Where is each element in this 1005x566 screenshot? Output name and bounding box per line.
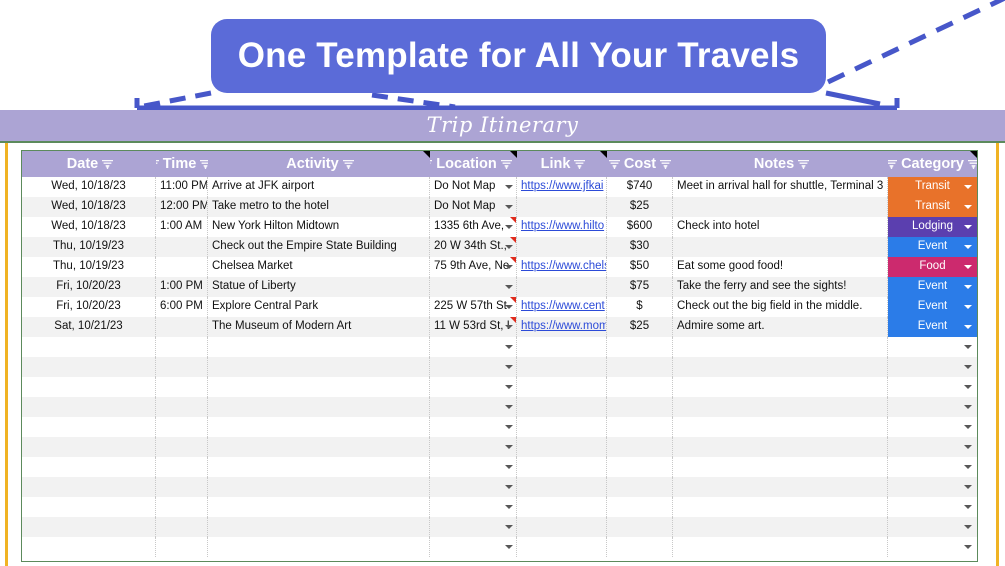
sheet-title: Trip Itinerary [0,110,1005,143]
category-badge[interactable] [888,417,977,437]
cell-activity[interactable]: New York Hilton Midtown [208,217,430,237]
cell-activity[interactable] [208,397,430,417]
right-edge-bar [996,143,999,566]
dropdown-arrow-icon[interactable] [505,525,513,529]
column-header-location[interactable]: Location [430,151,517,177]
table-row[interactable]: Fri, 10/20/231:00 PMStatue of Liberty$75… [22,277,977,297]
table-row-empty[interactable] [22,457,977,477]
cell-activity[interactable] [208,337,430,357]
table-row[interactable]: Fri, 10/20/236:00 PMExplore Central Park… [22,297,977,317]
cell-time[interactable] [156,257,208,277]
left-edge-bar [5,143,8,566]
table-row[interactable]: Wed, 10/18/2312:00 PMTake metro to the h… [22,197,977,217]
category-badge[interactable]: Transit [888,177,977,197]
dropdown-arrow-icon[interactable] [505,465,513,469]
cell-location[interactable]: Do Not Map [430,197,517,217]
dropdown-arrow-icon[interactable] [964,545,972,549]
cell-activity[interactable] [208,537,430,557]
cell-link[interactable] [517,497,607,517]
table-row-empty[interactable] [22,397,977,417]
cell-location[interactable] [430,417,517,437]
cell-time[interactable] [156,417,208,437]
cell-cost[interactable] [607,337,673,357]
cell-date[interactable]: Fri, 10/20/23 [22,277,156,297]
cell-category[interactable] [888,417,977,437]
table-row[interactable]: Wed, 10/18/231:00 AMNew York Hilton Midt… [22,217,977,237]
cell-link[interactable] [517,397,607,417]
cell-link[interactable]: https://www.cent [517,297,607,317]
cell-cost[interactable] [607,377,673,397]
cell-cost[interactable]: $25 [607,197,673,217]
cell-location[interactable]: 225 W 57th St [430,297,517,317]
cell-time[interactable]: 1:00 PM [156,277,208,297]
dropdown-arrow-icon[interactable] [505,425,513,429]
category-badge[interactable] [888,377,977,397]
dropdown-arrow-icon[interactable] [964,345,972,349]
filter-icon[interactable] [609,160,620,169]
cell-date[interactable] [22,477,156,497]
cell-notes[interactable] [673,357,888,377]
cell-notes[interactable] [673,397,888,417]
cell-category[interactable]: Transit [888,177,977,197]
cell-activity[interactable] [208,357,430,377]
cell-cost[interactable] [607,437,673,457]
filter-icon[interactable] [343,160,354,169]
cell-time[interactable]: 12:00 PM [156,197,208,217]
column-header-time[interactable]: Time [156,151,208,177]
cell-note-marker-icon [510,237,516,243]
cell-note-marker-icon [510,257,516,263]
cell-location[interactable] [430,537,517,557]
column-header-label: Link [539,156,573,172]
dropdown-arrow-icon[interactable] [505,265,513,269]
table-row-empty[interactable] [22,497,977,517]
cell-date[interactable] [22,497,156,517]
cell-location[interactable] [430,437,517,457]
cell-date[interactable]: Wed, 10/18/23 [22,197,156,217]
category-badge[interactable] [888,437,977,457]
dropdown-arrow-icon[interactable] [505,285,513,289]
dropdown-arrow-icon[interactable] [964,225,972,229]
filter-icon[interactable] [200,160,208,169]
cell-cost[interactable] [607,537,673,557]
cell-notes[interactable]: Eat some good food! [673,257,888,277]
cell-time[interactable] [156,397,208,417]
cell-location[interactable] [430,497,517,517]
cell-activity[interactable]: Take metro to the hotel [208,197,430,217]
cell-link[interactable]: https://www.hilto [517,217,607,237]
dropdown-arrow-icon[interactable] [505,345,513,349]
dropdown-arrow-icon[interactable] [964,185,972,189]
cell-date[interactable] [22,337,156,357]
cell-date[interactable] [22,537,156,557]
column-header-label: Notes [752,156,796,172]
cell-note-marker-icon [510,297,516,303]
cell-category[interactable]: Food [888,257,977,277]
cell-cost[interactable] [607,477,673,497]
column-header-notes[interactable]: Notes [673,151,888,177]
cell-activity[interactable] [208,377,430,397]
cell-category[interactable] [888,517,977,537]
dashed-leg-left [139,93,211,107]
table-row-empty[interactable] [22,357,977,377]
cell-time[interactable] [156,317,208,337]
cell-activity[interactable]: Check out the Empire State Building [208,237,430,257]
cell-cost[interactable] [607,417,673,437]
table-row[interactable]: Thu, 10/19/23Chelsea Market75 9th Ave, N… [22,257,977,277]
cell-cost[interactable] [607,517,673,537]
cell-location[interactable] [430,517,517,537]
cell-activity[interactable] [208,437,430,457]
filter-icon[interactable] [798,160,809,169]
dropdown-arrow-icon[interactable] [505,185,513,189]
comment-marker-icon [423,151,430,158]
cell-cost[interactable]: $ [607,297,673,317]
dropdown-arrow-icon[interactable] [505,305,513,309]
leg-right [826,93,880,104]
table-row[interactable]: Wed, 10/18/2311:00 PMArrive at JFK airpo… [22,177,977,197]
cell-link[interactable] [517,417,607,437]
cell-notes[interactable] [673,237,888,257]
comment-marker-icon [970,151,977,158]
filter-icon[interactable] [968,160,977,169]
dropdown-arrow-icon[interactable] [505,545,513,549]
dropdown-arrow-icon[interactable] [964,485,972,489]
cell-time[interactable] [156,537,208,557]
cell-cost[interactable]: $30 [607,237,673,257]
filter-icon[interactable] [574,160,585,169]
cell-link[interactable] [517,357,607,377]
cell-category[interactable] [888,537,977,557]
cell-location[interactable]: 20 W 34th St., [430,237,517,257]
dropdown-arrow-icon[interactable] [964,245,972,249]
table-row[interactable]: Sat, 10/21/23The Museum of Modern Art11 … [22,317,977,337]
table-row-empty[interactable] [22,377,977,397]
cell-cost[interactable]: $600 [607,217,673,237]
dropdown-arrow-icon[interactable] [505,225,513,229]
cell-date[interactable]: Thu, 10/19/23 [22,257,156,277]
cell-activity[interactable] [208,417,430,437]
cell-notes[interactable]: Admire some art. [673,317,888,337]
category-badge[interactable] [888,337,977,357]
dropdown-arrow-icon[interactable] [964,405,972,409]
cell-link[interactable]: https://www.mom [517,317,607,337]
cell-activity[interactable]: Explore Central Park [208,297,430,317]
cell-link[interactable] [517,277,607,297]
cell-time[interactable] [156,497,208,517]
cell-date[interactable] [22,377,156,397]
category-badge[interactable] [888,497,977,517]
cell-notes[interactable] [673,377,888,397]
cell-link[interactable]: https://www.mom [521,320,607,332]
cell-time[interactable] [156,517,208,537]
cell-activity[interactable]: Arrive at JFK airport [208,177,430,197]
cell-link[interactable]: https://www.jfkai [521,180,603,192]
cell-category[interactable]: Transit [888,197,977,217]
cell-location[interactable]: 1335 6th Ave, [430,217,517,237]
category-badge[interactable] [888,397,977,417]
cell-notes[interactable]: Meet in arrival hall for shuttle, Termin… [673,177,888,197]
cell-category[interactable] [888,357,977,377]
dropdown-arrow-icon[interactable] [964,525,972,529]
dropdown-arrow-icon[interactable] [964,365,972,369]
column-header-category[interactable]: Category [888,151,977,177]
dropdown-arrow-icon[interactable] [505,245,513,249]
cell-category[interactable] [888,497,977,517]
dropdown-arrow-icon[interactable] [505,445,513,449]
column-header-label: Date [65,156,100,172]
cell-note-marker-icon [510,217,516,223]
filter-icon[interactable] [430,160,432,169]
cell-category[interactable]: Event [888,317,977,337]
cell-activity[interactable] [208,497,430,517]
dropdown-arrow-icon[interactable] [964,205,972,209]
cell-notes[interactable] [673,197,888,217]
cell-time[interactable] [156,477,208,497]
dropdown-arrow-icon[interactable] [505,385,513,389]
cell-time[interactable] [156,377,208,397]
column-header-label: Cost [622,156,658,172]
cell-link[interactable] [517,197,607,217]
cell-time[interactable] [156,357,208,377]
cell-link[interactable] [517,377,607,397]
cell-cost[interactable] [607,457,673,477]
cell-date[interactable]: Thu, 10/19/23 [22,237,156,257]
cell-date[interactable] [22,517,156,537]
dropdown-arrow-icon[interactable] [964,325,972,329]
cell-link[interactable] [517,237,607,257]
cell-notes[interactable] [673,417,888,437]
cell-location[interactable]: 11 W 53rd St, I [430,317,517,337]
cell-note-marker-icon [510,317,516,323]
cell-cost[interactable]: $50 [607,257,673,277]
cell-link[interactable]: https://www.chels [521,260,607,272]
category-badge[interactable] [888,357,977,377]
category-badge[interactable]: Food [888,257,977,277]
cell-date[interactable]: Fri, 10/20/23 [22,297,156,317]
category-badge[interactable]: Event [888,277,977,297]
table-row[interactable]: Thu, 10/19/23Check out the Empire State … [22,237,977,257]
cell-cost[interactable] [607,357,673,377]
cell-link[interactable] [517,517,607,537]
dropdown-arrow-icon[interactable] [505,485,513,489]
cell-link[interactable] [517,337,607,357]
cell-time[interactable] [156,457,208,477]
cell-date[interactable] [22,417,156,437]
filter-icon[interactable] [888,160,897,169]
cell-notes[interactable] [673,497,888,517]
cell-category[interactable]: Event [888,277,977,297]
category-badge[interactable]: Transit [888,197,977,217]
table-row-empty[interactable] [22,337,977,357]
dropdown-arrow-icon[interactable] [964,505,972,509]
column-header-cost[interactable]: Cost [607,151,673,177]
column-header-link[interactable]: Link [517,151,607,177]
cell-time[interactable]: 6:00 PM [156,297,208,317]
table-row-empty[interactable] [22,417,977,437]
cell-category[interactable] [888,477,977,497]
cell-category[interactable]: Event [888,297,977,317]
cell-category[interactable] [888,337,977,357]
cell-cost[interactable] [607,497,673,517]
dropdown-arrow-icon[interactable] [505,365,513,369]
cell-date[interactable] [22,437,156,457]
cell-notes[interactable] [673,517,888,537]
dropdown-arrow-icon[interactable] [964,445,972,449]
cell-link[interactable] [517,537,607,557]
cell-activity[interactable]: Chelsea Market [208,257,430,277]
dropdown-arrow-icon[interactable] [505,505,513,509]
table-row-empty[interactable] [22,477,977,497]
category-badge[interactable]: Event [888,297,977,317]
category-badge[interactable]: Lodging [888,217,977,237]
cell-activity[interactable]: The Museum of Modern Art [208,317,430,337]
cell-notes[interactable]: Check into hotel [673,217,888,237]
cell-notes[interactable] [673,457,888,477]
cell-date[interactable]: Sat, 10/21/23 [22,317,156,337]
spreadsheet: Trip Itinerary DateTimeActivityLocationL… [0,110,1005,566]
column-header-label: Time [161,156,199,172]
cell-location[interactable] [430,477,517,497]
column-header-label: Activity [284,156,340,172]
column-header-activity[interactable]: Activity [208,151,430,177]
cell-link[interactable]: https://www.cent [521,300,605,312]
filter-icon[interactable] [501,160,512,169]
cell-time[interactable] [156,437,208,457]
cell-activity[interactable] [208,477,430,497]
dropdown-arrow-icon[interactable] [505,405,513,409]
cell-link[interactable]: https://www.jfkai [517,177,607,197]
table-row-empty[interactable] [22,437,977,457]
cell-time[interactable]: 1:00 AM [156,217,208,237]
callout-title-badge: One Template for All Your Travels [211,19,826,93]
cell-location[interactable]: Do Not Map [430,177,517,197]
cell-category[interactable]: Event [888,237,977,257]
filter-icon[interactable] [660,160,671,169]
cell-category[interactable]: Lodging [888,217,977,237]
cell-location[interactable] [430,357,517,377]
cell-location[interactable] [430,457,517,477]
dashed-leg-center [372,95,455,107]
table-row-empty[interactable] [22,517,977,537]
column-header-date[interactable]: Date [22,151,156,177]
category-badge[interactable] [888,477,977,497]
cell-cost[interactable]: $25 [607,317,673,337]
cell-time[interactable] [156,337,208,357]
table-header-row: DateTimeActivityLocationLinkCostNotesCat… [22,151,977,177]
comment-marker-icon [510,151,517,158]
cell-category[interactable] [888,397,977,417]
filter-icon[interactable] [102,160,113,169]
dropdown-arrow-icon[interactable] [505,325,513,329]
cell-activity[interactable] [208,517,430,537]
table-body: Wed, 10/18/2311:00 PMArrive at JFK airpo… [22,177,977,557]
callout-title-text: One Template for All Your Travels [238,36,800,76]
cell-link[interactable] [517,437,607,457]
cell-location[interactable] [430,397,517,417]
cell-cost[interactable]: $75 [607,277,673,297]
cell-notes[interactable] [673,337,888,357]
cell-notes[interactable] [673,477,888,497]
category-badge[interactable]: Event [888,237,977,257]
cell-link[interactable] [517,477,607,497]
cell-notes[interactable] [673,537,888,557]
cell-notes[interactable]: Take the ferry and see the sights! [673,277,888,297]
cell-notes[interactable]: Check out the big field in the middle. [673,297,888,317]
cell-link[interactable] [517,457,607,477]
cell-date[interactable] [22,397,156,417]
category-badge[interactable] [888,537,977,557]
dropdown-arrow-icon[interactable] [964,385,972,389]
category-badge[interactable] [888,457,977,477]
dropdown-arrow-icon[interactable] [505,205,513,209]
filter-icon[interactable] [156,160,159,169]
cell-location[interactable]: 75 9th Ave, Ne [430,257,517,277]
cell-category[interactable] [888,437,977,457]
cell-location[interactable] [430,337,517,357]
category-badge[interactable] [888,517,977,537]
cell-date[interactable] [22,457,156,477]
cell-category[interactable] [888,377,977,397]
cell-activity[interactable]: Statue of Liberty [208,277,430,297]
cell-location[interactable] [430,377,517,397]
column-header-label: Category [899,156,966,172]
comment-marker-icon [600,151,607,158]
cell-activity[interactable] [208,457,430,477]
cell-link[interactable]: https://www.hilto [521,220,604,232]
dropdown-arrow-icon[interactable] [964,425,972,429]
cell-location[interactable] [430,277,517,297]
category-badge[interactable]: Event [888,317,977,337]
itinerary-table: DateTimeActivityLocationLinkCostNotesCat… [21,150,978,562]
cell-time[interactable]: 11:00 PM [156,177,208,197]
cell-date[interactable] [22,357,156,377]
dropdown-arrow-icon[interactable] [964,465,972,469]
column-header-label: Location [434,156,498,172]
dashed-leg-topright [828,0,1005,82]
dropdown-arrow-icon[interactable] [964,305,972,309]
cell-link[interactable]: https://www.chels [517,257,607,277]
cell-time[interactable] [156,237,208,257]
cell-cost[interactable]: $740 [607,177,673,197]
cell-date[interactable]: Wed, 10/18/23 [22,217,156,237]
table-row-empty[interactable] [22,537,977,557]
cell-category[interactable] [888,457,977,477]
dropdown-arrow-icon[interactable] [964,285,972,289]
cell-date[interactable]: Wed, 10/18/23 [22,177,156,197]
cell-notes[interactable] [673,437,888,457]
cell-cost[interactable] [607,397,673,417]
dropdown-arrow-icon[interactable] [964,265,972,269]
